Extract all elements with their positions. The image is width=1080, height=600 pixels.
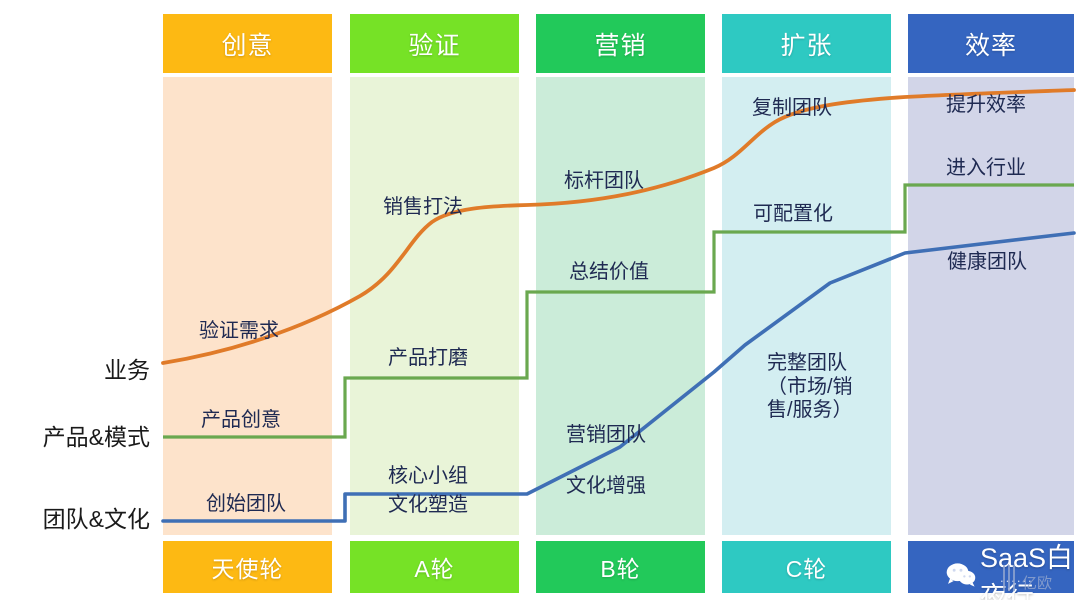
wechat-icon <box>946 557 976 593</box>
yiou-logo-mark <box>1003 565 1018 591</box>
annotation-replicate-team: 复制团队 <box>752 97 832 121</box>
annotation-complete-team: 完整团队 （市场/销 售/服务） <box>767 352 853 423</box>
annotation-healthy-team: 健康团队 <box>947 251 1027 275</box>
annotation-sales-method: 销售打法 <box>383 196 463 220</box>
annotation-configurable: 可配置化 <box>753 203 833 227</box>
annotation-benchmark-team: 标杆团队 <box>564 170 644 194</box>
product-step-line <box>163 185 1074 437</box>
annotation-culture-shaping: 文化塑造 <box>388 494 468 518</box>
annotation-core-group: 核心小组 <box>388 465 468 489</box>
business-curve <box>163 90 1074 363</box>
annotation-culture-strengthen: 文化增强 <box>566 475 646 499</box>
annotation-product-idea: 产品创意 <box>201 409 281 433</box>
annotation-product-polish: 产品打磨 <box>388 347 468 371</box>
annotation-marketing-team: 营销团队 <box>566 424 646 448</box>
annotation-summarize-value: 总结价值 <box>569 261 649 285</box>
annotation-enter-industry: 进入行业 <box>946 157 1026 181</box>
trend-lines <box>0 0 1080 600</box>
annotation-founding-team: 创始团队 <box>206 493 286 517</box>
yiou-source-label: 亿欧 <box>1022 572 1052 593</box>
annotation-improve-efficiency: 提升效率 <box>946 94 1026 118</box>
annotation-verify-demand: 验证需求 <box>199 320 279 344</box>
diagram-canvas: 创意 验证 营销 扩张 效率 天使轮 A轮 B轮 C轮 业务 产品&模式 团队&… <box>0 0 1080 600</box>
